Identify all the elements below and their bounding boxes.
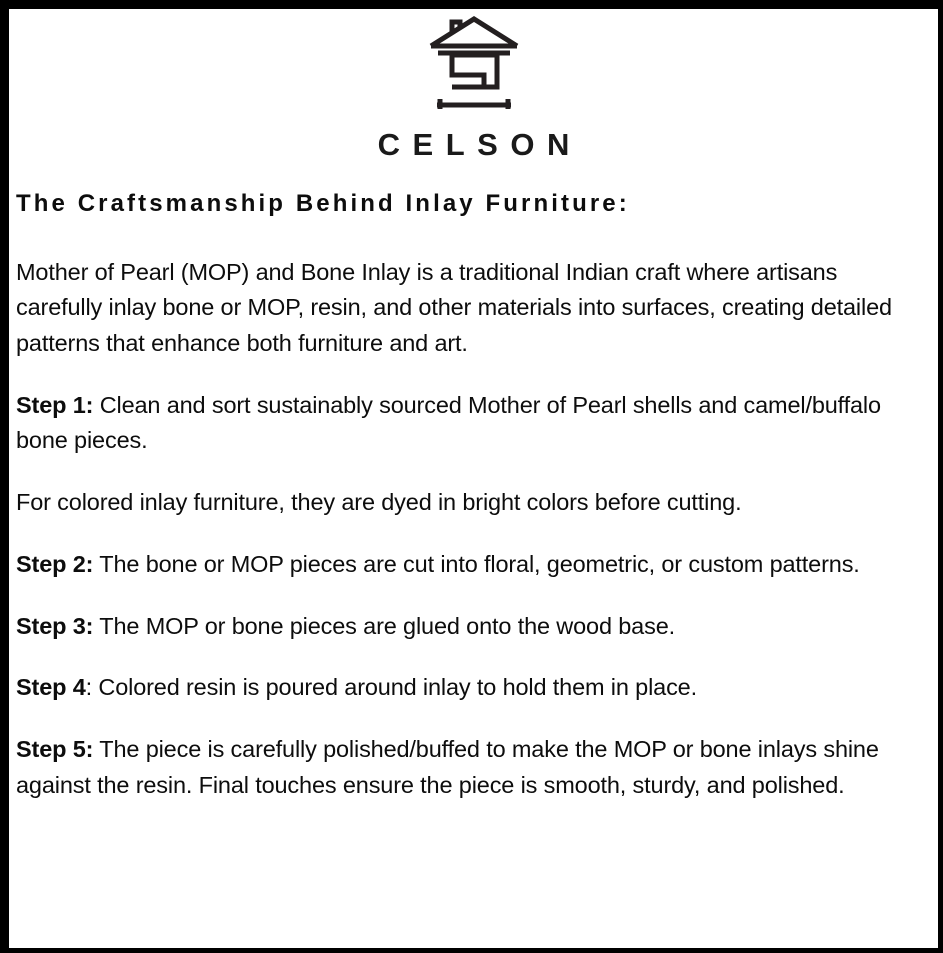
step-2-label: Step 2:	[16, 551, 93, 577]
brand-header: CELSON	[9, 9, 938, 160]
step-5-text: The piece is carefully polished/buffed t…	[16, 736, 879, 798]
page-title: The Craftsmanship Behind Inlay Furniture…	[16, 190, 912, 218]
step-3-text: The MOP or bone pieces are glued onto th…	[93, 613, 675, 639]
poster-frame: CELSON The Craftsmanship Behind Inlay Fu…	[0, 0, 943, 953]
step-4-text: : Colored resin is poured around inlay t…	[86, 674, 697, 700]
step-4-paragraph: Step 4: Colored resin is poured around i…	[16, 670, 912, 706]
step-1-text: Clean and sort sustainably sourced Mothe…	[16, 392, 881, 454]
step-2-text: The bone or MOP pieces are cut into flor…	[93, 551, 859, 577]
step-4-label: Step 4	[16, 674, 86, 700]
step-1-paragraph: Step 1: Clean and sort sustainably sourc…	[16, 388, 912, 459]
note-paragraph: For colored inlay furniture, they are dy…	[16, 485, 912, 521]
step-5-paragraph: Step 5: The piece is carefully polished/…	[16, 732, 912, 803]
step-2-paragraph: Step 2: The bone or MOP pieces are cut i…	[16, 547, 912, 583]
brand-wordmark: CELSON	[9, 129, 938, 160]
article-body: The Craftsmanship Behind Inlay Furniture…	[9, 190, 938, 804]
step-5-label: Step 5:	[16, 736, 93, 762]
house-monogram-icon	[426, 15, 522, 113]
step-3-label: Step 3:	[16, 613, 93, 639]
step-3-paragraph: Step 3: The MOP or bone pieces are glued…	[16, 609, 912, 645]
step-1-label: Step 1:	[16, 392, 93, 418]
intro-paragraph: Mother of Pearl (MOP) and Bone Inlay is …	[16, 255, 912, 362]
